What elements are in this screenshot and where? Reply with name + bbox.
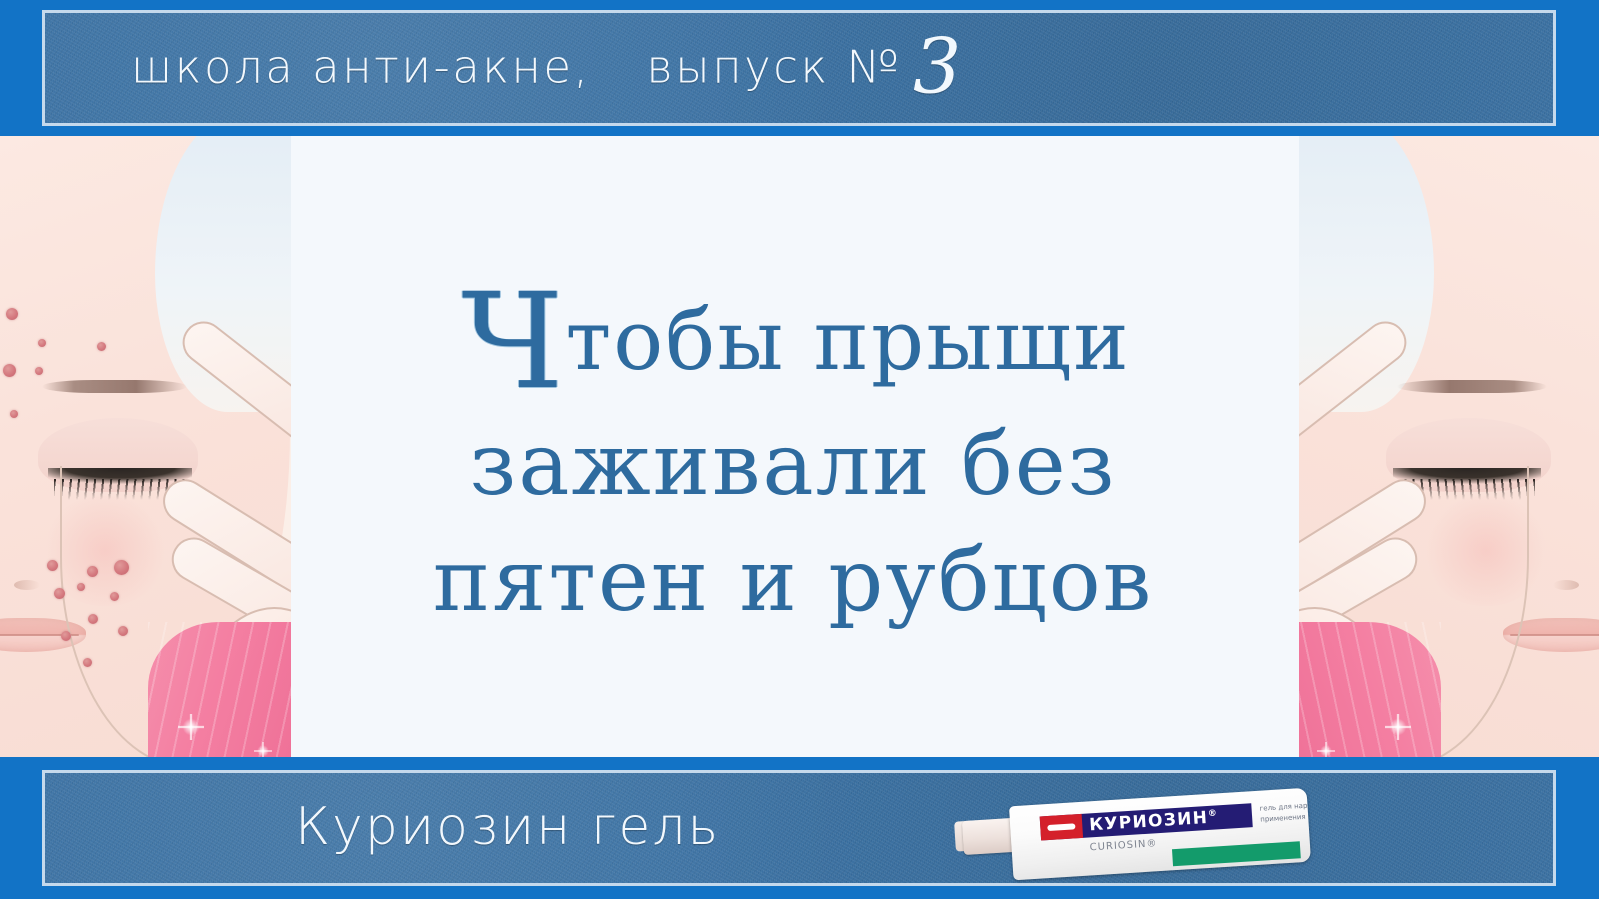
clothing-shape xyxy=(148,622,291,757)
acne-spot xyxy=(87,566,98,577)
acne-spot xyxy=(54,588,65,599)
poster-root: школа анти-акне,выпуск №3 xyxy=(0,0,1599,899)
sparkle-icon xyxy=(254,742,272,757)
brand-logo-icon xyxy=(1040,814,1083,841)
acne-spot xyxy=(114,560,129,575)
bottom-banner-area: Куриозин гель КУРИОЗИН® CURIOSIN® гель д… xyxy=(0,757,1599,899)
acne-spot xyxy=(97,342,106,351)
acne-spot xyxy=(10,410,18,418)
acne-spot xyxy=(61,631,71,641)
illustration-left-acne-face xyxy=(0,136,291,757)
tube-brand-name: КУРИОЗИН® xyxy=(1082,807,1219,836)
bottom-banner-plate: Куриозин гель КУРИОЗИН® CURIOSIN® гель д… xyxy=(42,770,1556,886)
acne-spot xyxy=(47,560,58,571)
face-art-right xyxy=(1299,136,1599,757)
middle-row: Чтобы прыщи заживали без пятен и рубцов xyxy=(0,136,1599,757)
header-title-main: школа анти-акне, xyxy=(131,40,590,93)
illustration-right-clear-face xyxy=(1295,136,1599,757)
headline-line-1-rest: тобы прыщи xyxy=(565,292,1130,389)
tube-brand-latin: CURIOSIN® xyxy=(1089,838,1157,853)
acne-spot xyxy=(83,658,92,667)
issue-number: 3 xyxy=(913,21,961,110)
headline-line-2: заживали без xyxy=(469,422,1116,508)
sparkle-icon xyxy=(1317,742,1335,757)
acne-spot xyxy=(38,339,46,347)
headline-line-3: пятен и рубцов xyxy=(433,538,1153,624)
acne-spot xyxy=(88,614,98,624)
tube-brand-label: КУРИОЗИН® xyxy=(1040,803,1253,840)
acne-spot xyxy=(6,308,18,320)
headline-dropcap: Ч xyxy=(461,265,563,419)
header-title-second: выпуск xyxy=(646,40,829,93)
sparkle-icon xyxy=(178,714,204,740)
headline-panel: Чтобы прыщи заживали без пятен и рубцов xyxy=(291,136,1295,757)
header-title: школа анти-акне,выпуск №3 xyxy=(45,40,1553,93)
sparkle-icon xyxy=(1385,714,1411,740)
face-art-left xyxy=(0,136,291,757)
nose-shape xyxy=(1553,580,1579,590)
number-sign-icon: № xyxy=(847,40,899,93)
tube-body-shape: КУРИОЗИН® CURIOSIN® гель для наружного п… xyxy=(1009,788,1311,881)
headline-line-1: Чтобы прыщи xyxy=(455,285,1130,382)
eyebrow-shape xyxy=(42,380,187,393)
product-title: Куриозин гель xyxy=(295,797,720,857)
acne-spot xyxy=(118,626,128,636)
clothing-shape xyxy=(1295,622,1441,757)
top-banner-plate: школа анти-акне,выпуск №3 xyxy=(42,10,1556,126)
tube-fine-print: гель для наружного применения 103 мкг xyxy=(1259,797,1311,824)
tube-green-stripe xyxy=(1172,841,1301,866)
top-banner-area: школа анти-акне,выпуск №3 xyxy=(0,0,1599,136)
acne-spot xyxy=(110,592,119,601)
acne-spot xyxy=(77,583,85,591)
acne-spot xyxy=(35,367,43,375)
acne-spot xyxy=(3,364,16,377)
tube-brand-text: КУРИОЗИН xyxy=(1089,808,1209,835)
product-tube-image: КУРИОЗИН® CURIOSIN® гель для наружного п… xyxy=(955,791,1315,879)
nose-shape xyxy=(14,580,40,590)
eyebrow-shape xyxy=(1397,380,1547,393)
registered-mark-icon: ® xyxy=(1208,809,1219,820)
